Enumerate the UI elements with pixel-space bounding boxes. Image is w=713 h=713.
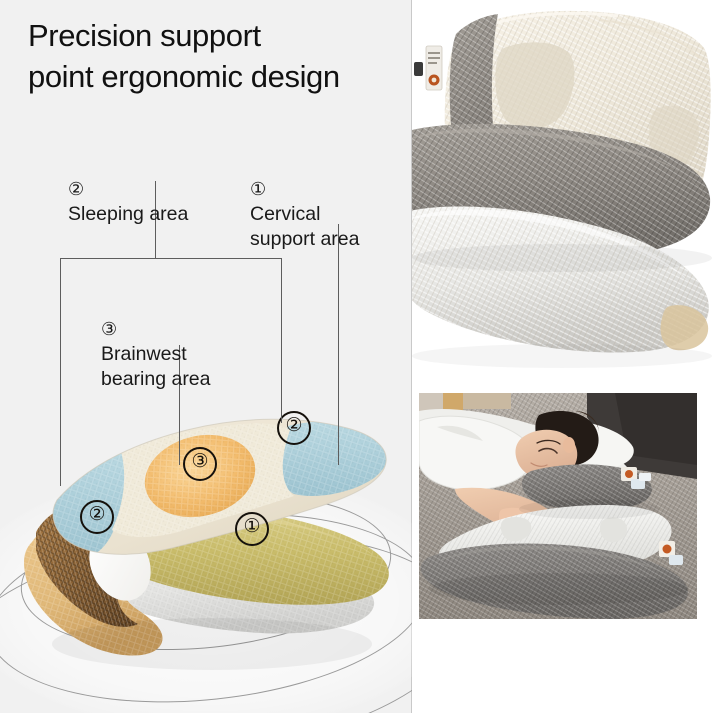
product-photo-stacked-pillows <box>412 0 713 372</box>
callout-cervical-label: Cervical support area <box>250 203 360 250</box>
pillow-diagram <box>2 382 402 672</box>
callout-cervical-support-area: ① Cervical support area <box>250 152 382 252</box>
diagram-marker-sleeping-right: ② <box>277 411 311 445</box>
callout-cervical-marker: ① <box>250 179 266 199</box>
callout-brainwest-marker: ③ <box>101 319 117 339</box>
callout-sleeping-marker: ② <box>68 179 84 199</box>
diagram-marker-brainwest: ③ <box>183 447 217 481</box>
callout-sleeping-area: ② Sleeping area <box>68 152 188 227</box>
infographic-root: Precision support point ergonomic design… <box>0 0 713 713</box>
callout-brainwest-label: Brainwest bearing area <box>101 343 211 390</box>
callout-sleeping-label: Sleeping area <box>68 203 188 225</box>
infographic-left-panel: Precision support point ergonomic design… <box>0 0 412 713</box>
page-title: Precision support point ergonomic design <box>28 16 412 98</box>
callout-brainwest-bearing-area: ③ Brainwest bearing area <box>101 292 271 392</box>
leader-line-sleeping-bracket <box>60 258 282 259</box>
leader-line-cervical <box>338 224 339 465</box>
lifestyle-photo-woman-sleeping <box>418 392 698 620</box>
diagram-marker-sleeping-left: ② <box>80 500 114 534</box>
diagram-marker-cervical: ① <box>235 512 269 546</box>
leader-line-sleeping-right <box>281 258 282 423</box>
leader-line-sleeping-left <box>60 258 61 486</box>
